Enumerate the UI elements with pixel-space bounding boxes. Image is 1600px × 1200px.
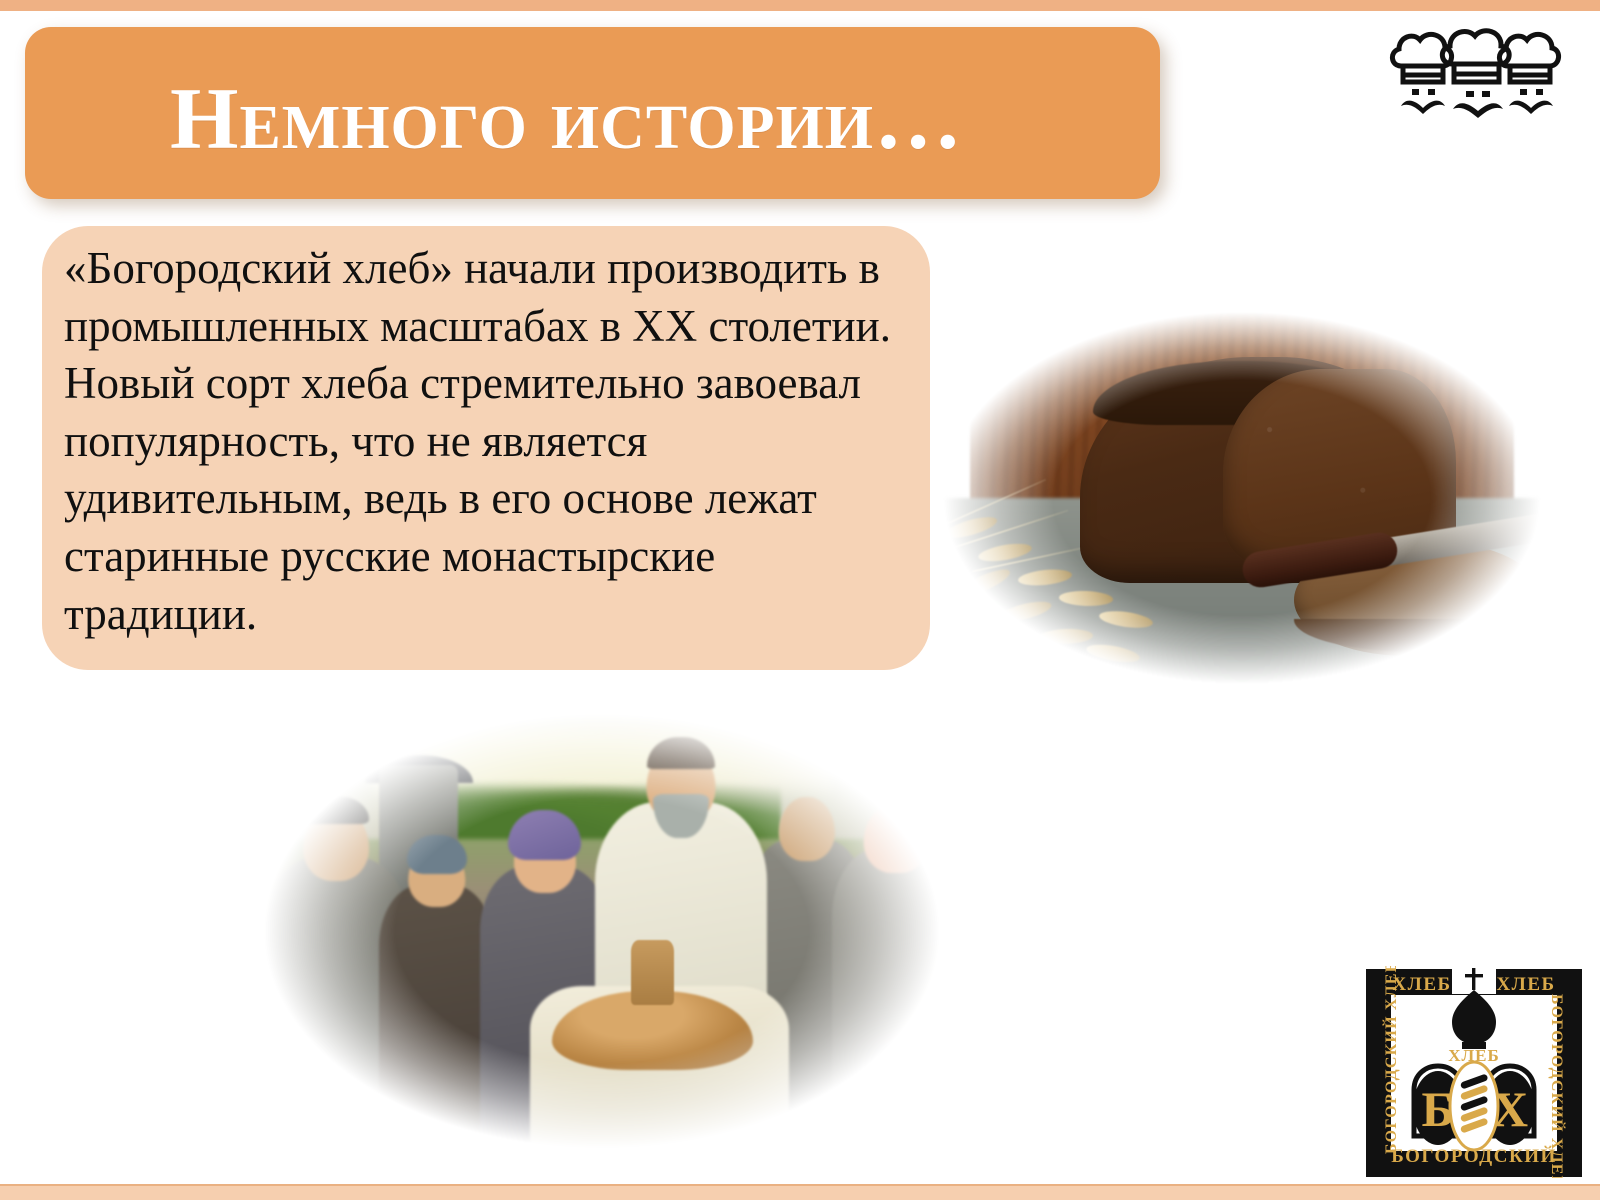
painting-figure-woman-second: [379, 885, 494, 1162]
top-accent-stripe: [0, 0, 1600, 11]
logo-right-side-word: БОГОРОДСКИЙ ХЛЕБ: [1548, 994, 1567, 1178]
bread-and-salt-painting: [243, 700, 961, 1162]
page-title: Немного истории…: [170, 76, 1160, 164]
rye-bread-photo: [918, 296, 1566, 700]
painting-figure-right-second: [832, 848, 961, 1162]
logo-top-left-word: ХЛЕБ: [1392, 974, 1451, 995]
logo-top-right-word: ХЛЕБ: [1496, 974, 1555, 995]
history-paragraph: «Богородский хлеб» начали производить в …: [64, 240, 914, 643]
chef-hats-icon: [1387, 22, 1562, 122]
bottom-accent-stripe: [0, 1184, 1600, 1200]
logo-left-side-word: БОГОРОДСКИЙ ХЛЕБ: [1381, 966, 1400, 1154]
painting-salt-cellar: [631, 940, 674, 1005]
title-banner: Немного истории…: [25, 27, 1160, 199]
history-text-card: «Богородский хлеб» начали производить в …: [42, 226, 930, 670]
bogorodsky-hleb-logo: ХЛЕБ ХЛЕБ БОГОРОДСКИЙ БОГОРОДСКИЙ ХЛЕБ Б…: [1366, 966, 1582, 1178]
